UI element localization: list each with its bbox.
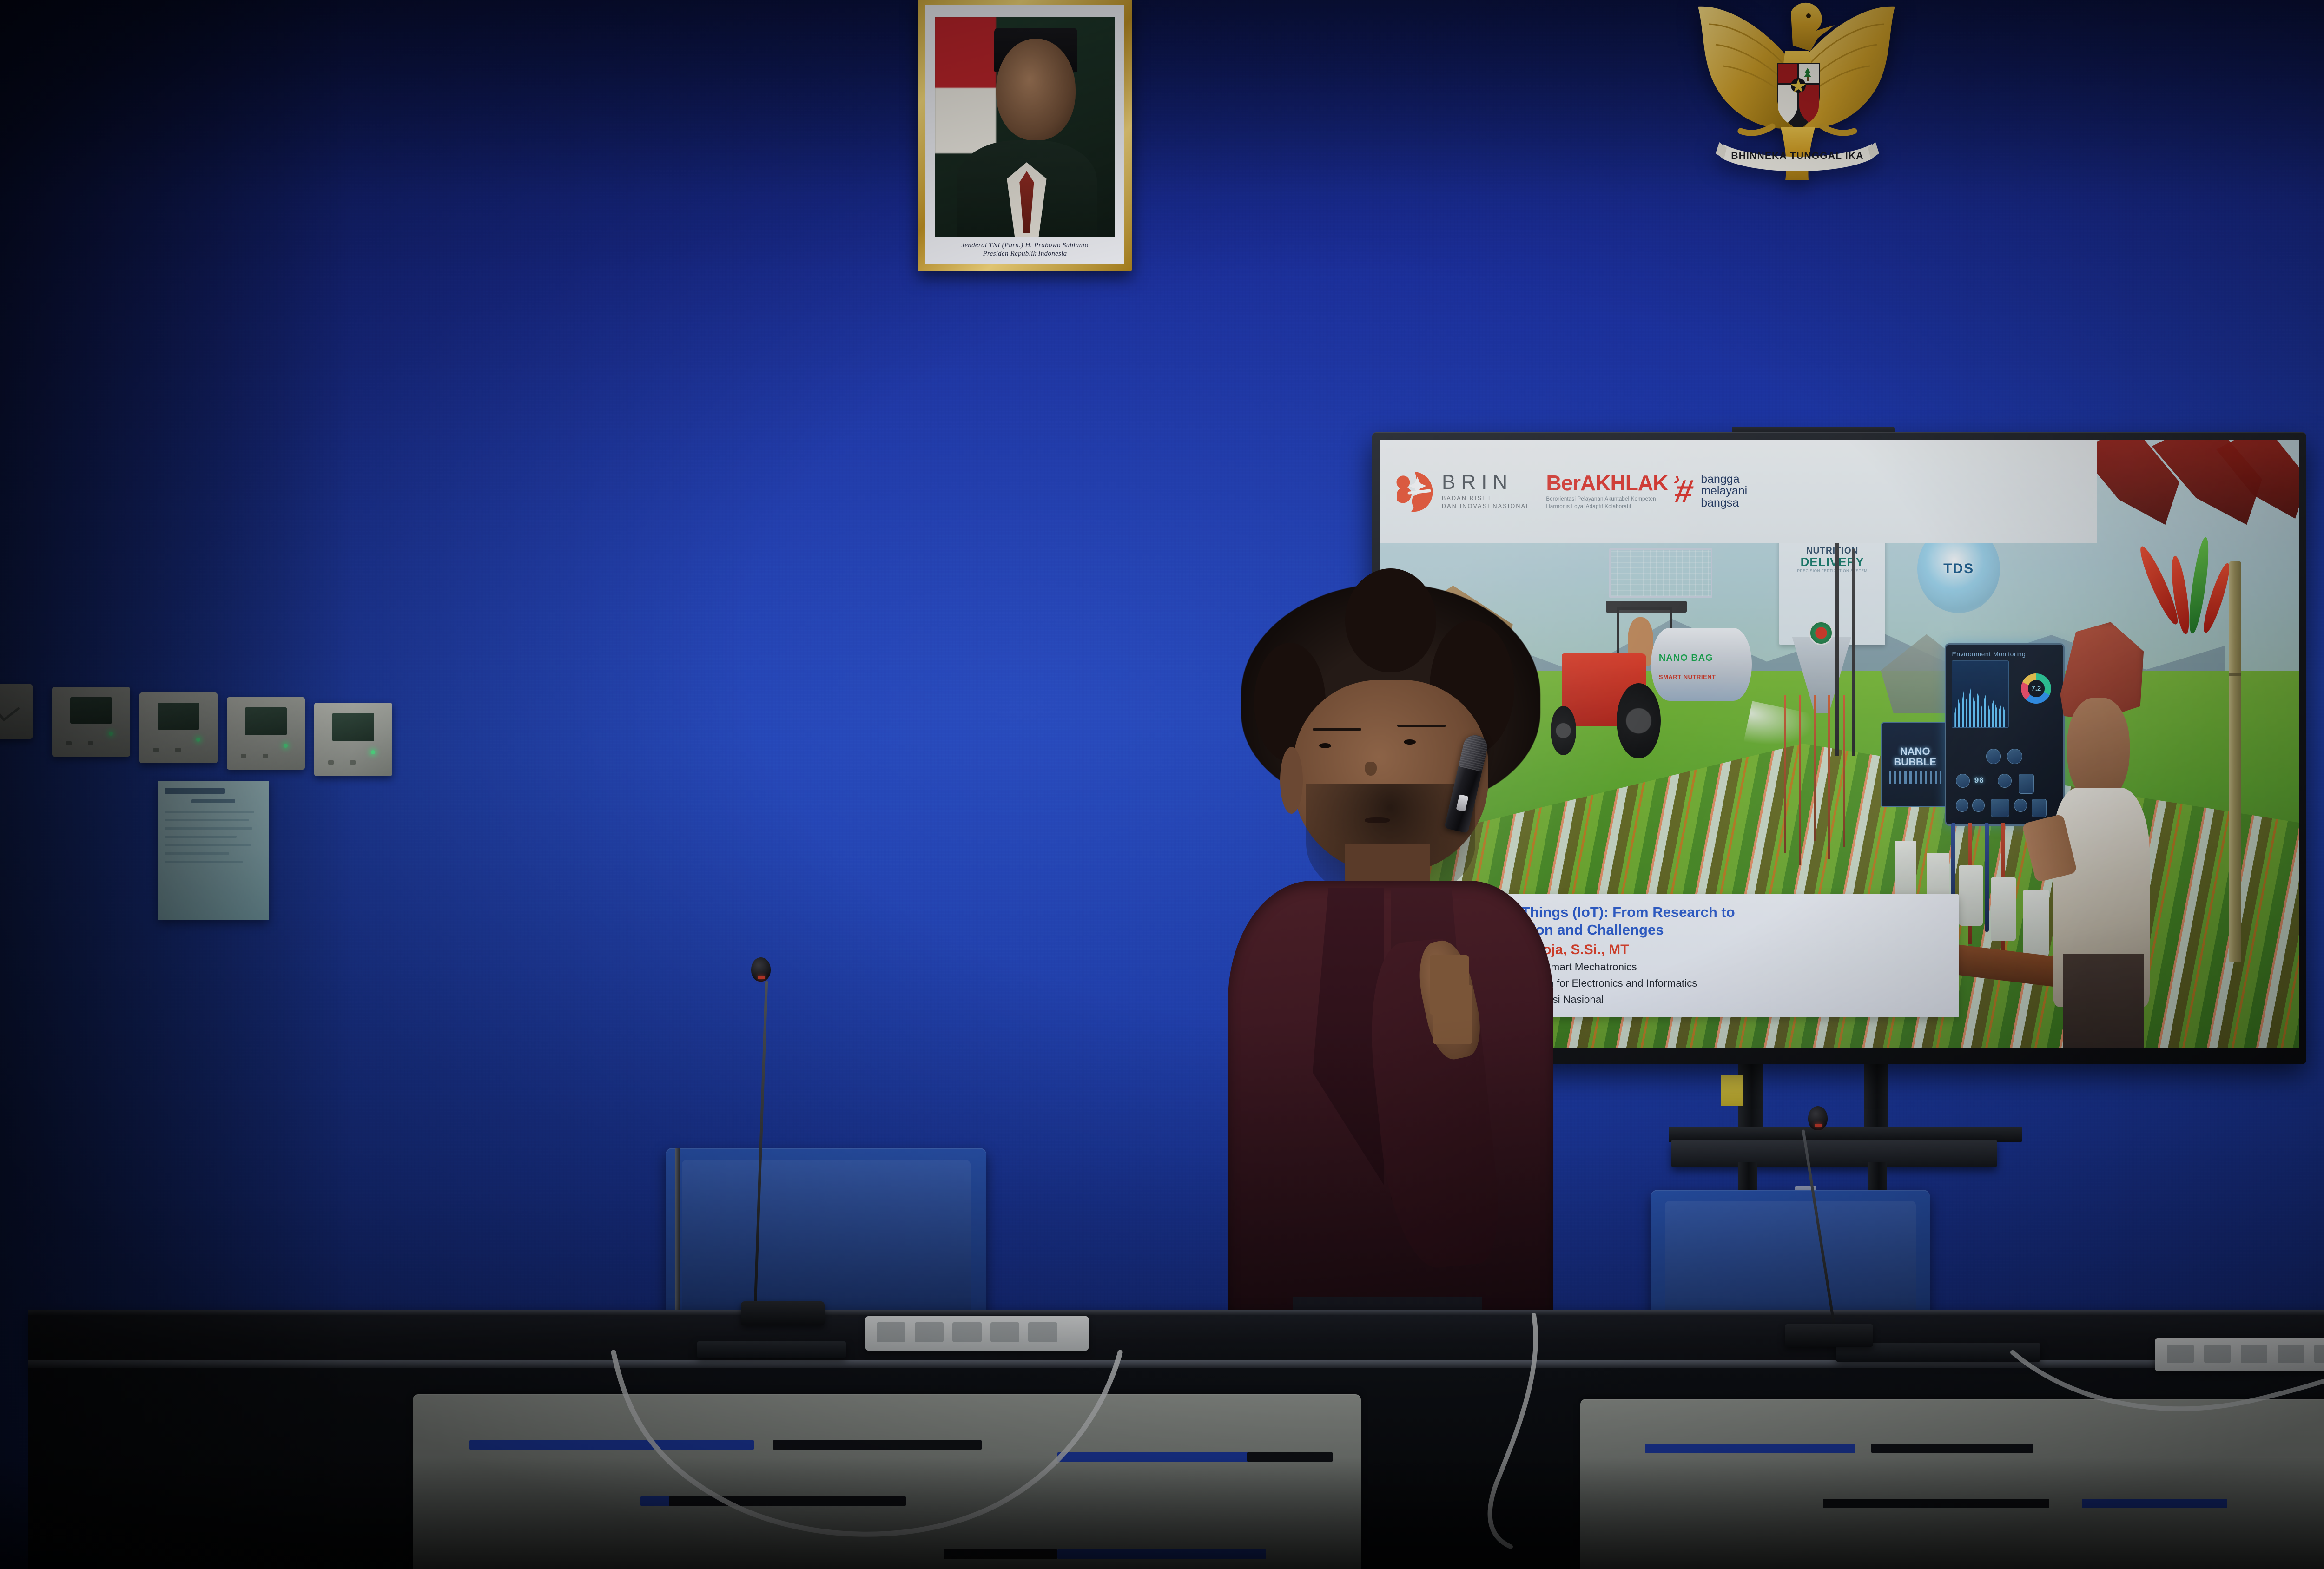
gooseneck-mic-center[interactable] (1799, 1106, 1855, 1357)
dashboard-value-text: 7.2 (2031, 685, 2041, 692)
dashboard-gauge: 7.2 (2021, 673, 2051, 704)
bangga-line2: melayani (1701, 485, 1747, 497)
brin-logo: BRIN BADAN RISET DAN INOVASI NASIONAL (1391, 469, 1530, 514)
nano-line1-text: NANO (1900, 746, 1930, 757)
slide-logo-band: BRIN BADAN RISET DAN INOVASI NASIONAL Be… (1380, 440, 2097, 543)
tv-stand-sticker (1721, 1075, 1743, 1106)
tank-sublabel-text: SMART NUTRIENT (1659, 673, 1716, 680)
nano-line2-text: BUBBLE (1894, 757, 1936, 767)
tank-label-text: NANO BAG (1659, 653, 1713, 664)
drip-delivery-text: DELIVERY (1783, 556, 1881, 568)
dashboard-title-text: Environment Monitoring (1952, 650, 2057, 658)
portrait-frame-president: Jenderal TNI (Purn.) H. Prabowo Subianto… (918, 0, 1132, 271)
gooseneck-mic-left[interactable] (739, 957, 795, 1329)
president-photo (935, 17, 1115, 237)
power-strip-left[interactable] (865, 1316, 1089, 1351)
dashboard-reading-text: 98 (1974, 776, 1984, 785)
hashtag-icon: # (1673, 478, 1696, 504)
cable-right (1999, 1348, 2324, 1469)
microphone-switch[interactable] (1456, 794, 1469, 812)
brin-wordmark: BRIN (1442, 472, 1530, 493)
berakhlak-title: BerAKHLAK › (1546, 472, 1668, 494)
drip-nutrition-text: NUTRITION (1783, 547, 1881, 555)
berakhlak-tagline-1: Berorientasi Pelayanan Akuntabel Kompete… (1546, 496, 1668, 503)
president-caption-title: Presiden Republik Indonesia (935, 250, 1115, 258)
garuda-pancasila-emblem: BHINNEKA TUNGGAL IKA (1671, 0, 1922, 209)
bamboo-post (2229, 561, 2241, 962)
garuda-motto-text: BHINNEKA TUNGGAL IKA (1731, 151, 1863, 161)
farmer-figure (2051, 622, 2152, 999)
dashboard-chart (1952, 660, 2009, 728)
president-caption-name: Jenderal TNI (Purn.) H. Prabowo Subianto (935, 241, 1115, 250)
brin-sub-line1: BADAN RISET (1442, 494, 1530, 502)
drip-fineprint-text: PRECISION FERTIGATION SYSTEM (1783, 569, 1881, 573)
solar-panel-icon (1609, 548, 1712, 598)
nano-bubble-panel: NANO BUBBLE (1881, 722, 1949, 807)
iot-dashboard-panel: Environment Monitoring 7.2 98 (1945, 643, 2064, 825)
brin-mark-icon (1391, 469, 1435, 514)
presenter-figure (1228, 583, 1553, 1327)
seminar-room-scene: BHINNEKA TUNGGAL IKA BHINNEKA TUNGGAL IK… (0, 0, 2324, 1569)
bangga-line1: bangga (1701, 474, 1747, 486)
berakhlak-logo: BerAKHLAK › Berorientasi Pelayanan Akunt… (1546, 472, 1747, 510)
bangga-line3: bangsa (1701, 497, 1747, 509)
berakhlak-tagline-2: Harmonis Loyal Adaptif Kolaboratif (1546, 503, 1668, 511)
nutrient-tank: NANO BAG SMART NUTRIENT (1651, 628, 1752, 701)
brin-sub-line2: DAN INOVASI NASIONAL (1442, 502, 1530, 510)
